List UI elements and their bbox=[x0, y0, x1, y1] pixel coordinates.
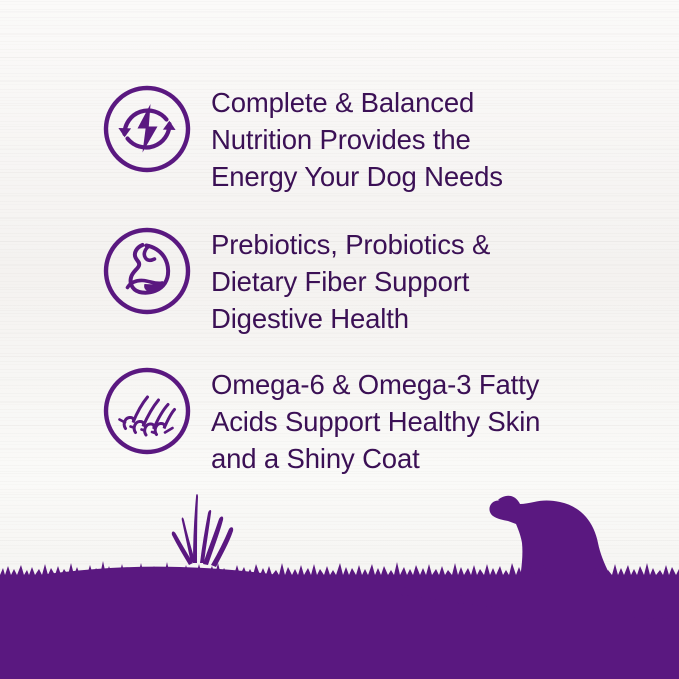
energy-cycle-icon bbox=[102, 84, 192, 174]
tall-grass-tuft bbox=[172, 494, 233, 567]
feature-text: Prebiotics, Probiotics & Dietary Fiber S… bbox=[211, 226, 631, 337]
landscape-silhouette bbox=[0, 479, 679, 679]
hair-follicle-icon bbox=[102, 366, 192, 456]
stomach-icon bbox=[102, 226, 192, 316]
feature-text: Omega-6 & Omega-3 Fatty Acids Support He… bbox=[211, 366, 631, 477]
product-feature-poster: Complete & Balanced Nutrition Provides t… bbox=[0, 0, 679, 679]
feature-text: Complete & Balanced Nutrition Provides t… bbox=[211, 84, 631, 195]
